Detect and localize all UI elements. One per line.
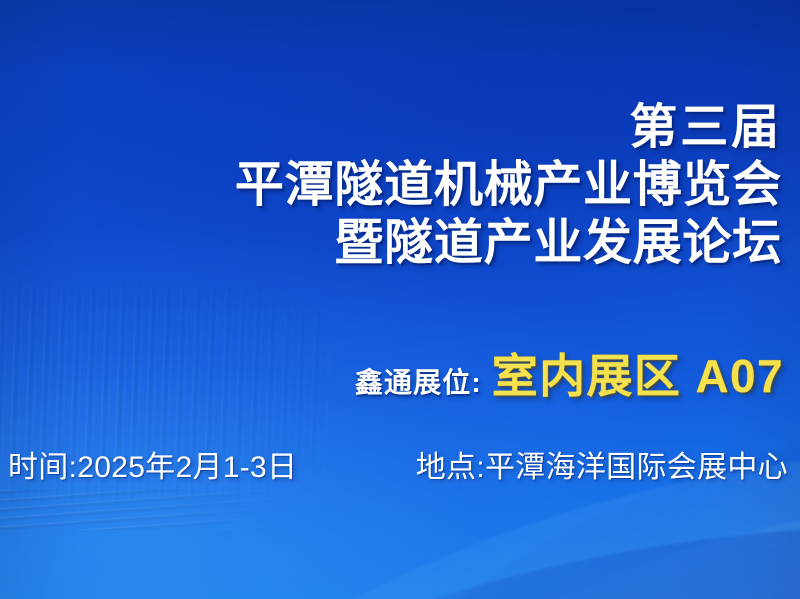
event-date: 时间:2025年2月1-3日 [8,442,297,486]
footer-row: 时间:2025年2月1-3日 地点:平潭海洋国际会展中心 [8,442,788,486]
headline-block: 第三届 平潭隧道机械产业博览会 暨隧道产业发展论坛 [235,104,782,268]
booth-number: 室内展区 A07 [492,340,784,406]
headline-title: 平潭隧道机械产业博览会 [235,161,782,210]
event-location: 地点:平潭海洋国际会展中心 [416,442,788,486]
headline-edition: 第三届 [235,104,782,152]
poster-content: 第三届 平潭隧道机械产业博览会 暨隧道产业发展论坛 鑫通展位: 室内展区 A07… [0,0,800,599]
booth-label: 鑫通展位: [355,361,482,401]
booth-row: 鑫通展位: 室内展区 A07 [355,340,784,406]
headline-subtitle: 暨隧道产业发展论坛 [235,219,782,268]
event-poster: 第三届 平潭隧道机械产业博览会 暨隧道产业发展论坛 鑫通展位: 室内展区 A07… [0,0,800,599]
